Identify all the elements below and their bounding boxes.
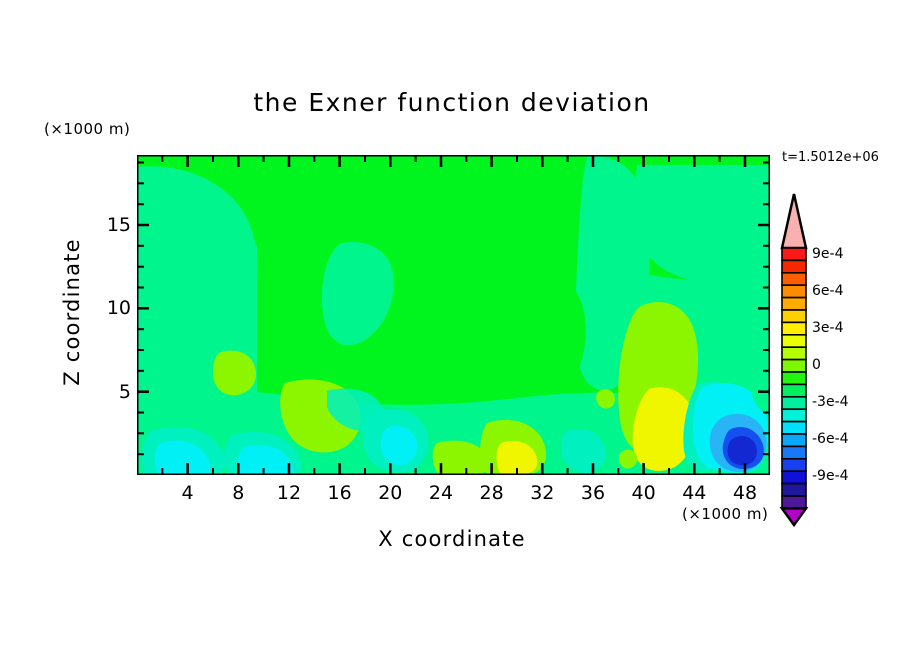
time-stamp-annotation: t=1.5012e+06: [782, 150, 879, 165]
colorbar-label: 6e-4: [812, 283, 843, 299]
colorbar-label: -3e-4: [812, 394, 849, 410]
x-tick-label: 48: [733, 482, 757, 504]
x-tick-label: 24: [429, 482, 453, 504]
figure-canvas: the Exner function deviation (×1000 m) t…: [0, 0, 904, 654]
x-tick-labels: 4 8 12 16 20 24 28 32 36 40 44 48: [137, 482, 770, 508]
colorbar-label: -6e-4: [812, 431, 849, 447]
y-tick-label: 15: [95, 214, 131, 236]
colorbar-cap-top-icon: [782, 194, 806, 248]
figure-title: the Exner function deviation: [0, 88, 904, 117]
colorbar-graphic: [778, 192, 810, 527]
axis-ticks: [137, 155, 770, 475]
x-tick-label: 8: [232, 482, 244, 504]
colorbar-label: 0: [812, 357, 821, 373]
colorbar-label: 9e-4: [812, 246, 843, 262]
colorbar-cap-bottom-icon: [782, 508, 806, 525]
colorbar-full[interactable]: [778, 192, 810, 527]
contour-plot-area: [137, 155, 770, 475]
x-tick-label: 32: [530, 482, 554, 504]
colorbar-label: -9e-4: [812, 468, 849, 484]
x-tick-label: 20: [378, 482, 402, 504]
x-tick-label: 36: [581, 482, 605, 504]
x-axis-title: X coordinate: [0, 527, 904, 551]
x-tick-label: 44: [682, 482, 706, 504]
x-tick-label: 28: [480, 482, 504, 504]
x-tick-label: 12: [277, 482, 301, 504]
y-tick-label: 5: [95, 381, 131, 403]
y-tick-label: 10: [95, 297, 131, 319]
x-tick-label: 40: [632, 482, 656, 504]
y-axis-title: Z coordinate: [60, 212, 84, 412]
y-tick-labels: 5 10 15: [95, 155, 131, 475]
colorbar-label: 3e-4: [812, 320, 843, 336]
x-tick-label: 4: [182, 482, 194, 504]
colorbar-tick-labels: 9e-4 6e-4 3e-4 0 -3e-4 -6e-4 -9e-4: [812, 192, 892, 527]
x-tick-label: 16: [328, 482, 352, 504]
y-axis-units-label: (×1000 m): [44, 120, 130, 138]
colorbar-band-group: [782, 248, 806, 508]
